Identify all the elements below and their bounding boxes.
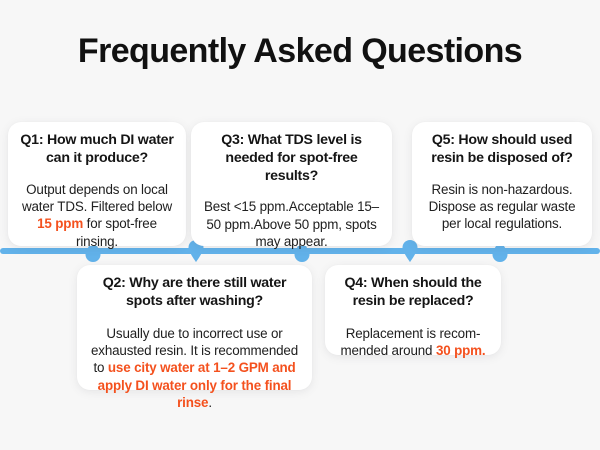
faq-question-q3: Q3: What TDS level is needed for spot-fr… [202,132,381,185]
faq-answer-q4: Replacement is recom-mended around 30 pp… [336,325,490,360]
faq-question-q4: Q4: When should the resin be replaced? [336,275,490,311]
answer-text: Resin is non-hazardous. Dispose as regul… [429,182,576,232]
faq-answer-q1: Output depends on local water TDS. Filte… [19,181,175,251]
answer-text: Best <15 ppm.Acceptable 15–50 ppm.Above … [204,199,379,249]
faq-answer-q3: Best <15 ppm.Acceptable 15–50 ppm.Above … [202,198,381,250]
faq-card-q1: Q1: How much DI water can it produce? Ou… [8,122,186,246]
answer-highlight: 30 ppm. [436,343,486,358]
answer-text-tail: for spot-free rinsing. [76,216,157,248]
faq-answer-q2: Usually due to incorrect use or exhauste… [88,325,301,412]
answer-text-tail: . [208,395,212,410]
faq-card-q5: Q5: How should used resin be disposed of… [412,122,592,246]
page-title: Frequently Asked Questions [0,33,600,70]
faq-answer-q5: Resin is non-hazardous. Dispose as regul… [423,181,581,233]
faq-card-q4: Q4: When should the resin be replaced? R… [325,265,501,355]
faq-infographic: Frequently Asked Questions Q1: How much … [0,0,600,450]
faq-question-q1: Q1: How much DI water can it produce? [19,132,175,168]
answer-text: Output depends on local water TDS. Filte… [22,182,172,214]
faq-card-q3: Q3: What TDS level is needed for spot-fr… [191,122,392,246]
water-drop-icon [402,240,419,262]
faq-question-q5: Q5: How should used resin be disposed of… [423,132,581,168]
faq-card-q2: Q2: Why are there still water spots afte… [77,265,312,390]
faq-question-q2: Q2: Why are there still water spots afte… [88,275,301,311]
answer-highlight: use city water at 1–2 GPM and apply DI w… [98,360,296,410]
answer-highlight: 15 ppm [37,216,83,231]
